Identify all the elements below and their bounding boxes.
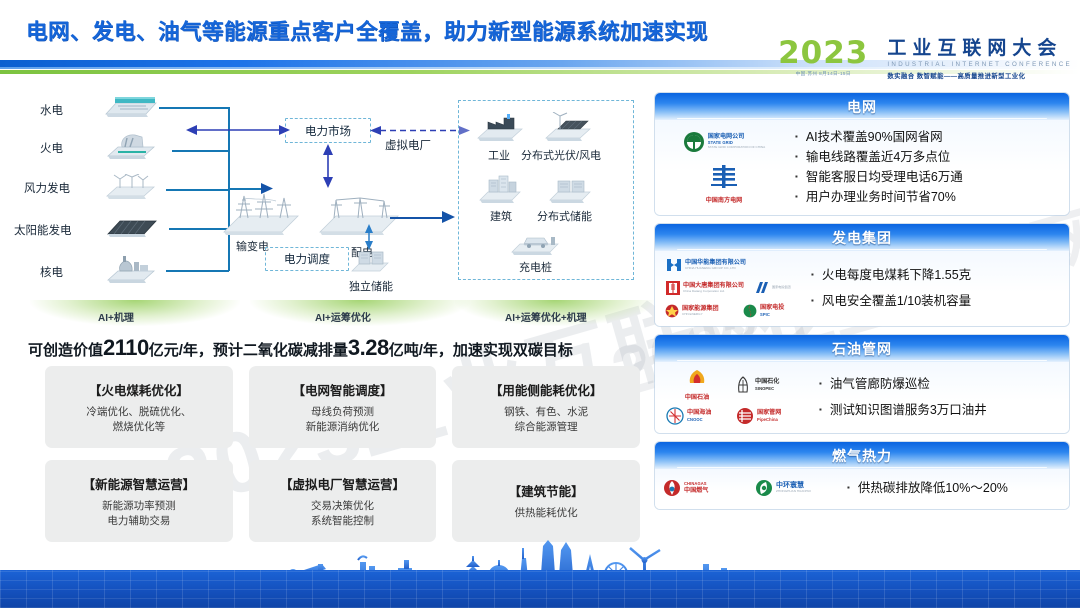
value-statement-mid-2: 亿吨/年，加速实现双碳目标 [389, 342, 573, 359]
consumer-label-distributed-pv-wind: 分布式光伏/风电 [521, 147, 601, 163]
flow-label-virtual-power-plant: 虚拟电厂 [385, 137, 431, 153]
bullet-item: 输电线路覆盖近4万多点位 [795, 147, 1061, 167]
bullet-item: 油气管廊防爆巡检 [819, 371, 1061, 397]
cgn-logo-icon [754, 281, 769, 295]
arrow-bus-to-transmission [228, 188, 264, 190]
building-icon [476, 174, 524, 206]
capability-card[interactable]: 【新能源智慧运营】 新能源功率预测 电力辅助交易 [45, 460, 233, 542]
bottom-grid-band [0, 570, 1080, 608]
card-body-line: 冷端优化、脱硫优化、 [86, 405, 191, 420]
company-name-cn: 中国南方电网 [706, 195, 743, 204]
wind-farm-icon [102, 174, 160, 202]
company-logo: 国家电投集团 [754, 281, 792, 295]
card-title: 【虚拟电厂智慧运营】 [280, 474, 405, 493]
card-title: 【火电煤耗优化】 [89, 380, 189, 399]
bottom-decoration [0, 536, 1080, 608]
bus-line-hydro [159, 107, 229, 109]
company-logo: 国家管网 PipeChina [736, 407, 810, 425]
card-body-line: 电力辅助交易 [102, 514, 176, 529]
pipechina-logo-icon [736, 407, 754, 425]
card-body-line: 交易决策优化 [311, 499, 374, 514]
company-name-en: China Datang Corporation Ltd. [683, 290, 744, 293]
logo-group: CHINAGAS 中国燃气 中环寰慧 ZHONGHUAN HUANHUI [663, 479, 841, 497]
company-name-cn: 中国燃气 [684, 488, 708, 494]
arrow-distribution-to-consumers [390, 217, 444, 219]
solar-panel-icon [102, 216, 160, 240]
company-logo-text: CHINAGAS 中国燃气 [684, 482, 708, 493]
value-statement: 可创造价值2110亿元/年，预计二氧化碳减排量3.28亿吨/年，加速实现双碳目标 [28, 335, 573, 361]
company-logo-text: 中国大唐集团有限公司 China Datang Corporation Ltd. [683, 283, 744, 293]
company-logo: 国家电投 SPIC [743, 304, 793, 318]
bullet-item: 智能客服日均受理电话6万通 [795, 167, 1061, 187]
card-body-line: 钢铁、有色、水泥 [504, 405, 588, 420]
company-logo-text: 中国华能集团有限公司 CHINA HUANENG GROUP CO.,LTD [685, 260, 746, 270]
section-bullet-list: 火电每度电煤耗下降1.55克 风电安全覆盖1/10装机容量 [795, 262, 1061, 314]
value-statement-number-1: 2110 [103, 335, 149, 360]
logo-group: 中国石油 中国石化 SINOPEC [663, 369, 813, 425]
company-logo: 国家电网公司 STATE GRID STATE GRID CORPORATION… [683, 131, 765, 153]
section-heading-label: 石油管网 [832, 339, 892, 359]
company-name-en: CHINA HUANENG GROUP CO.,LTD [685, 267, 746, 270]
section-body: 国家电网公司 STATE GRID STATE GRID CORPORATION… [655, 120, 1069, 215]
company-name-en: CHN ENERGY [682, 313, 719, 316]
company-logo-text: 国家管网 PipeChina [757, 410, 781, 421]
bullet-item: AI技术覆盖90%国网省网 [795, 127, 1061, 147]
company-logo: CHINAGAS 中国燃气 [663, 479, 743, 497]
conference-logo: 2023 中国·苏州 8月14日-15日 工业互联网大会 INDUSTRIAL … [778, 38, 1072, 86]
conference-subtitle: 数实融合 数智赋能——高质量推进新型工业化 [887, 71, 1072, 80]
ev-charger-icon [508, 232, 564, 258]
slide-root: 电网、发电、油气等能源重点客户全覆盖，助力新型能源系统加速实现 2023 中国·… [0, 0, 1080, 608]
company-logo-text: 中国海油 CNOOC [687, 410, 711, 421]
company-name-cn: 中国海油 [687, 410, 711, 416]
source-label-nuclear: 核电 [40, 264, 63, 280]
conference-year-block: 2023 中国·苏州 8月14日-15日 [778, 38, 877, 77]
card-row-2: 【新能源智慧运营】 新能源功率预测 电力辅助交易 【虚拟电厂智慧运营】 交易决策… [45, 460, 640, 542]
section-heading-bar: 石油管网 [655, 335, 1069, 362]
section-heading-bar: 电网 [655, 93, 1069, 120]
conference-name-block: 工业互联网大会 INDUSTRIAL INTERNET CONFERENCE 数… [887, 38, 1072, 80]
company-name-sub: STATE GRID CORPORATION OF CHINA [708, 146, 765, 149]
company-logo-text: 中国石化 SINOPEC [755, 379, 779, 390]
dashed-box-power-market: 电力市场 [285, 118, 371, 143]
company-name-cn: 国家管网 [757, 410, 781, 416]
bullet-item: 风电安全覆盖1/10装机容量 [811, 288, 1061, 314]
dashed-box-power-dispatch: 电力调度 [265, 247, 349, 271]
company-logo: 中环寰慧 ZHONGHUAN HUANHUI [755, 479, 841, 497]
thermal-plant-icon [102, 132, 160, 162]
company-name-en: ZHONGHUAN HUANHUI [776, 490, 811, 493]
card-body-line: 母线负荷预测 [306, 405, 380, 420]
conference-year: 2023 [778, 38, 868, 68]
capability-card[interactable]: 【火电煤耗优化】 冷端优化、脱硫优化、 燃烧优化等 [45, 366, 233, 448]
company-name-en: SINOPEC [755, 387, 779, 391]
source-label-solar: 太阳能发电 [14, 222, 72, 238]
card-body: 钢铁、有色、水泥 综合能源管理 [504, 405, 588, 435]
chinagas-logo-icon [663, 479, 681, 497]
source-label-thermal: 火电 [40, 140, 63, 156]
consumer-label-industry: 工业 [488, 147, 510, 163]
card-body-line: 燃烧优化等 [86, 420, 191, 435]
swoosh-label-2: AI+运筹优化 [315, 309, 371, 324]
card-body: 母线负荷预测 新能源消纳优化 [306, 405, 380, 435]
arrow-distribution-storage-icon [363, 224, 375, 250]
state-grid-logo-icon [683, 131, 705, 153]
bullet-item: 火电每度电煤耗下降1.55克 [811, 262, 1061, 288]
company-name-en: PipeChina [757, 418, 781, 422]
section-bullet-list: 油气管廊防爆巡检 测试知识图谱服务3万口油井 [813, 371, 1061, 423]
csg-logo-icon [709, 164, 739, 190]
section-heading-bar: 燃气热力 [655, 442, 1069, 469]
capability-card[interactable]: 【虚拟电厂智慧运营】 交易决策优化 系统智能控制 [249, 460, 437, 542]
company-name-en: SPIC [760, 313, 784, 317]
distributed-pv-wind-icon [542, 112, 594, 144]
datang-logo-icon [666, 281, 680, 295]
company-name-cn: 国家电投集团 [772, 286, 791, 289]
logo-group: 中国华能集团有限公司 CHINA HUANENG GROUP CO.,LTD 中… [663, 258, 795, 318]
conference-name-en: INDUSTRIAL INTERNET CONFERENCE [887, 61, 1072, 68]
arrow-virtual-power-plant-icon [370, 124, 470, 137]
capability-card[interactable]: 【电网智能调度】 母线负荷预测 新能源消纳优化 [249, 366, 437, 448]
arrow-market-dispatch-icon [321, 144, 335, 188]
sinopec-logo-icon [734, 376, 752, 394]
cnooc-logo-icon [666, 407, 684, 425]
bullet-item: 用户办理业务时间节省70% [795, 187, 1061, 207]
company-logo-text: 国家能源集团 CHN ENERGY [682, 306, 719, 316]
panel-section-power-generation: 发电集团 中国华能集团有限公司 CHINA HUANENG GROUP CO.,… [655, 224, 1069, 326]
company-name-en: CNOOC [687, 418, 711, 422]
swoosh-label-1: AI+机理 [98, 309, 134, 324]
card-title: 【电网智能调度】 [293, 380, 393, 399]
section-body: 中国华能集团有限公司 CHINA HUANENG GROUP CO.,LTD 中… [655, 251, 1069, 326]
nuclear-plant-icon [102, 256, 160, 286]
bus-line-wind [166, 189, 229, 191]
value-statement-prefix: 可创造价值 [28, 342, 103, 359]
company-logo: 国家能源集团 CHN ENERGY [665, 304, 739, 318]
source-label-wind: 风力发电 [24, 180, 70, 196]
company-logo-text: 国家电投集团 [772, 286, 791, 289]
company-logo: 中国石油 [668, 369, 726, 401]
company-logo-text: 中环寰慧 ZHONGHUAN HUANHUI [776, 482, 811, 493]
company-logo: 中国大唐集团有限公司 China Datang Corporation Ltd. [666, 281, 750, 295]
company-name-cn: 中国石化 [755, 379, 779, 385]
huaneng-logo-icon [666, 258, 682, 272]
zhonghuan-logo-icon [755, 479, 773, 497]
card-body-line: 新能源功率预测 [102, 499, 176, 514]
consumer-label-distributed-storage: 分布式储能 [537, 208, 592, 224]
company-logo: 中国华能集团有限公司 CHINA HUANENG GROUP CO.,LTD [666, 258, 792, 272]
card-body: 新能源功率预测 电力辅助交易 [102, 499, 176, 529]
section-heading-label: 燃气热力 [832, 446, 892, 466]
capability-card[interactable]: 【建筑节能】 供热能耗优化 [452, 460, 640, 542]
value-statement-number-2: 3.28 [348, 335, 389, 360]
capability-card[interactable]: 【用能侧能耗优化】 钢铁、有色、水泥 综合能源管理 [452, 366, 640, 448]
card-body: 供热能耗优化 [515, 506, 578, 521]
section-heading-label: 发电集团 [832, 228, 892, 248]
company-logo-text: 国家电网公司 STATE GRID STATE GRID CORPORATION… [708, 134, 765, 148]
company-logo: 中国海油 CNOOC [666, 407, 728, 425]
conference-date: 中国·苏州 8月14日-15日 [778, 71, 868, 77]
section-heading-label: 电网 [847, 97, 877, 117]
company-name-cn: 中国石油 [685, 392, 709, 401]
dashed-box-power-market-label: 电力市场 [305, 123, 351, 139]
section-body: 中国石油 中国石化 SINOPEC [655, 362, 1069, 433]
company-name-en: CHINAGAS [684, 482, 708, 486]
node-label-storage: 独立储能 [349, 278, 393, 294]
card-body-line: 综合能源管理 [504, 420, 588, 435]
swoosh-label-3: AI+运筹优化+机理 [505, 309, 587, 324]
section-bullet-list: AI技术覆盖90%国网省网 输电线路覆盖近4万多点位 智能客服日均受理电话6万通… [785, 127, 1061, 207]
company-logo: 中国南方电网 [683, 164, 765, 204]
value-statement-mid-1: 亿元/年，预计二氧化碳减排量 [149, 342, 348, 359]
spic-logo-icon [743, 304, 757, 318]
chnenergy-logo-icon [665, 304, 679, 318]
card-body-line: 新能源消纳优化 [306, 420, 380, 435]
card-body-line: 供热能耗优化 [515, 506, 578, 521]
swoosh-divider-1 [30, 300, 240, 326]
industry-panel: 电网 国家电网公司 STATE GRID STAT [655, 93, 1069, 518]
distribution-line-icon [314, 192, 404, 240]
consumer-label-ev-charger: 充电桩 [519, 259, 552, 275]
dashed-box-power-dispatch-label: 电力调度 [284, 251, 330, 267]
source-label-hydro: 水电 [40, 102, 63, 118]
section-bullet-list: 供热碳排放降低10%～20% [841, 478, 1061, 498]
arrow-market-bus-icon [186, 123, 290, 137]
card-title: 【用能侧能耗优化】 [490, 380, 603, 399]
capability-card-grid: 【火电煤耗优化】 冷端优化、脱硫优化、 燃烧优化等 【电网智能调度】 母线负荷预… [45, 366, 640, 554]
section-body: CHINAGAS 中国燃气 中环寰慧 ZHONGHUAN HUANHUI [655, 469, 1069, 509]
storage-unit-icon [348, 247, 392, 277]
bullet-item: 供热碳排放降低10%～20% [847, 478, 1061, 498]
transmission-tower-icon [216, 192, 304, 240]
panel-section-gas-heating: 燃气热力 CHINAGAS 中国燃气 [655, 442, 1069, 509]
hydro-plant-icon [102, 94, 160, 120]
factory-icon [474, 114, 526, 144]
arrowhead-right-consumers-icon [442, 210, 457, 225]
company-name-cn: 中环寰慧 [776, 482, 811, 489]
company-logo-text: 国家电投 SPIC [760, 305, 784, 316]
company-logo: 中国石化 SINOPEC [734, 369, 808, 401]
card-body-line: 系统智能控制 [311, 514, 374, 529]
card-title: 【新能源智慧运营】 [83, 474, 196, 493]
panel-section-power-grid: 电网 国家电网公司 STATE GRID STAT [655, 93, 1069, 215]
card-body: 冷端优化、脱硫优化、 燃烧优化等 [86, 405, 191, 435]
petrochina-logo-icon [687, 369, 707, 387]
conference-name-cn: 工业互联网大会 [887, 38, 1072, 59]
company-name-cn: 国家电投 [760, 305, 784, 311]
card-row-1: 【火电煤耗优化】 冷端优化、脱硫优化、 燃烧优化等 【电网智能调度】 母线负荷预… [45, 366, 640, 448]
consumer-label-building: 建筑 [490, 208, 512, 224]
card-body: 交易决策优化 系统智能控制 [311, 499, 374, 529]
bullet-item: 测试知识图谱服务3万口油井 [819, 397, 1061, 423]
bus-line-nuclear [166, 270, 229, 272]
card-title: 【建筑节能】 [509, 481, 584, 500]
slide-header: 电网、发电、油气等能源重点客户全覆盖，助力新型能源系统加速实现 2023 中国·… [0, 0, 1080, 92]
logo-group: 国家电网公司 STATE GRID STATE GRID CORPORATION… [663, 131, 785, 204]
page-title: 电网、发电、油气等能源重点客户全覆盖，助力新型能源系统加速实现 [26, 15, 708, 46]
bus-line-thermal [172, 150, 229, 152]
section-heading-bar: 发电集团 [655, 224, 1069, 251]
distributed-storage-icon [546, 176, 594, 206]
panel-section-oil-gas-pipeline: 石油管网 中国石油 [655, 335, 1069, 433]
energy-system-diagram: 水电 火电 风力发电 太阳能发电 核电 [18, 92, 650, 307]
